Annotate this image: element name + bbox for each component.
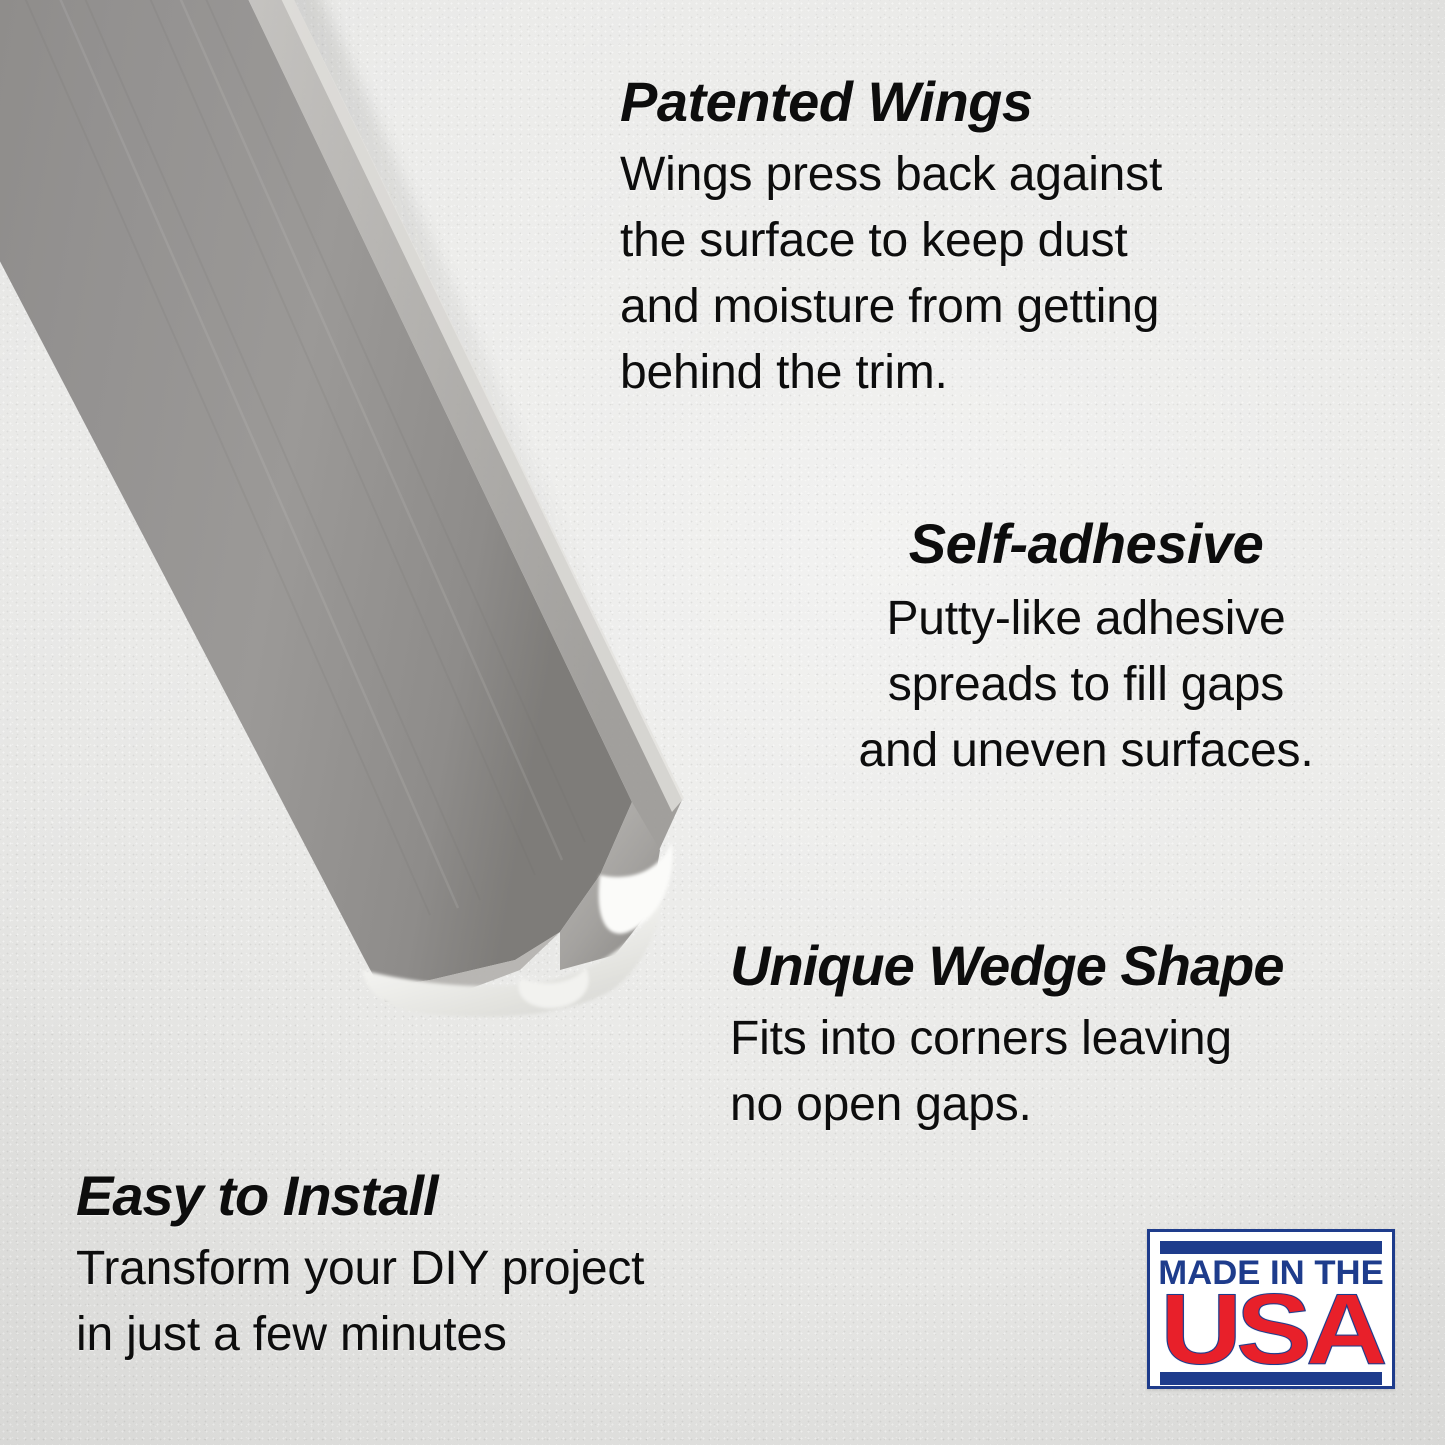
feature-title-self-adhesive: Self-adhesive: [806, 516, 1366, 572]
feature-body-line: behind the trim.: [620, 340, 1162, 406]
feature-body-easy-to-install: Transform your DIY project in just a few…: [76, 1236, 644, 1368]
feature-body-line: in just a few minutes: [76, 1302, 644, 1368]
feature-title-easy-to-install: Easy to Install: [76, 1168, 644, 1224]
feature-title-unique-wedge-shape: Unique Wedge Shape: [730, 938, 1283, 994]
feature-body-line: and moisture from getting: [620, 274, 1162, 340]
badge-top-bar: [1160, 1241, 1382, 1254]
feature-body-line: the surface to keep dust: [620, 208, 1162, 274]
feature-block-unique-wedge-shape: Unique Wedge Shape Fits into corners lea…: [730, 938, 1283, 1138]
feature-body-line: Putty-like adhesive: [806, 586, 1366, 652]
feature-body-line: and uneven surfaces.: [806, 718, 1366, 784]
feature-body-line: Fits into corners leaving: [730, 1006, 1283, 1072]
feature-body-patented-wings: Wings press back against the surface to …: [620, 142, 1162, 406]
feature-body-line: spreads to fill gaps: [806, 652, 1366, 718]
feature-block-self-adhesive: Self-adhesive Putty-like adhesive spread…: [806, 516, 1366, 784]
feature-body-line: no open gaps.: [730, 1072, 1283, 1138]
feature-body-line: Transform your DIY project: [76, 1236, 644, 1302]
feature-body-self-adhesive: Putty-like adhesive spreads to fill gaps…: [806, 586, 1366, 784]
feature-body-line: Wings press back against: [620, 142, 1162, 208]
feature-block-easy-to-install: Easy to Install Transform your DIY proje…: [76, 1168, 644, 1368]
infographic-canvas: Patented Wings Wings press back against …: [0, 0, 1445, 1445]
feature-title-patented-wings: Patented Wings: [620, 74, 1162, 130]
feature-body-unique-wedge-shape: Fits into corners leaving no open gaps.: [730, 1006, 1283, 1138]
badge-usa-text: USA: [1140, 1288, 1402, 1371]
made-in-usa-badge: MADE IN THE USA: [1147, 1229, 1395, 1389]
feature-block-patented-wings: Patented Wings Wings press back against …: [620, 74, 1162, 406]
